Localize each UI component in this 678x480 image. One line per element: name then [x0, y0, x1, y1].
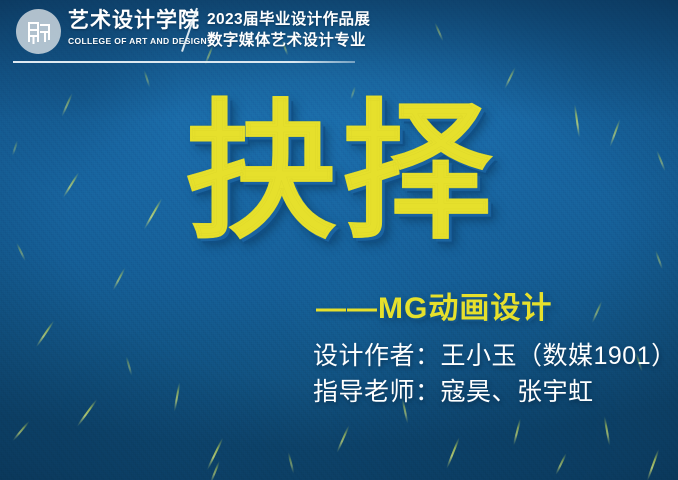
credit-line-designer: 设计作者：王小玉（数媒1901） — [313, 338, 677, 374]
poster-subtitle: ——MG动画设计 — [316, 283, 552, 327]
credit-line-advisor: 指导老师：寇昊、张宇虹 — [313, 374, 677, 410]
college-emblem-icon — [16, 9, 61, 54]
school-name-cn: 艺术设计学院 — [68, 8, 207, 33]
poster-header: 艺术设计学院 COLLEGE OF ART AND DESIGN 2023届毕业… — [0, 0, 678, 62]
poster-credits: 设计作者：王小玉（数媒1901） 指导老师：寇昊、张宇虹 — [313, 338, 677, 410]
exhibition-line-1: 2023届毕业设计作品展 — [207, 9, 370, 30]
exhibition-info-block: 2023届毕业设计作品展 数字媒体艺术设计专业 — [207, 9, 370, 51]
poster-canvas: 艺术设计学院 COLLEGE OF ART AND DESIGN 2023届毕业… — [0, 0, 678, 480]
header-divider-rule — [13, 61, 355, 63]
poster-title: 抉择 — [186, 98, 498, 248]
exhibition-line-2: 数字媒体艺术设计专业 — [207, 30, 370, 51]
